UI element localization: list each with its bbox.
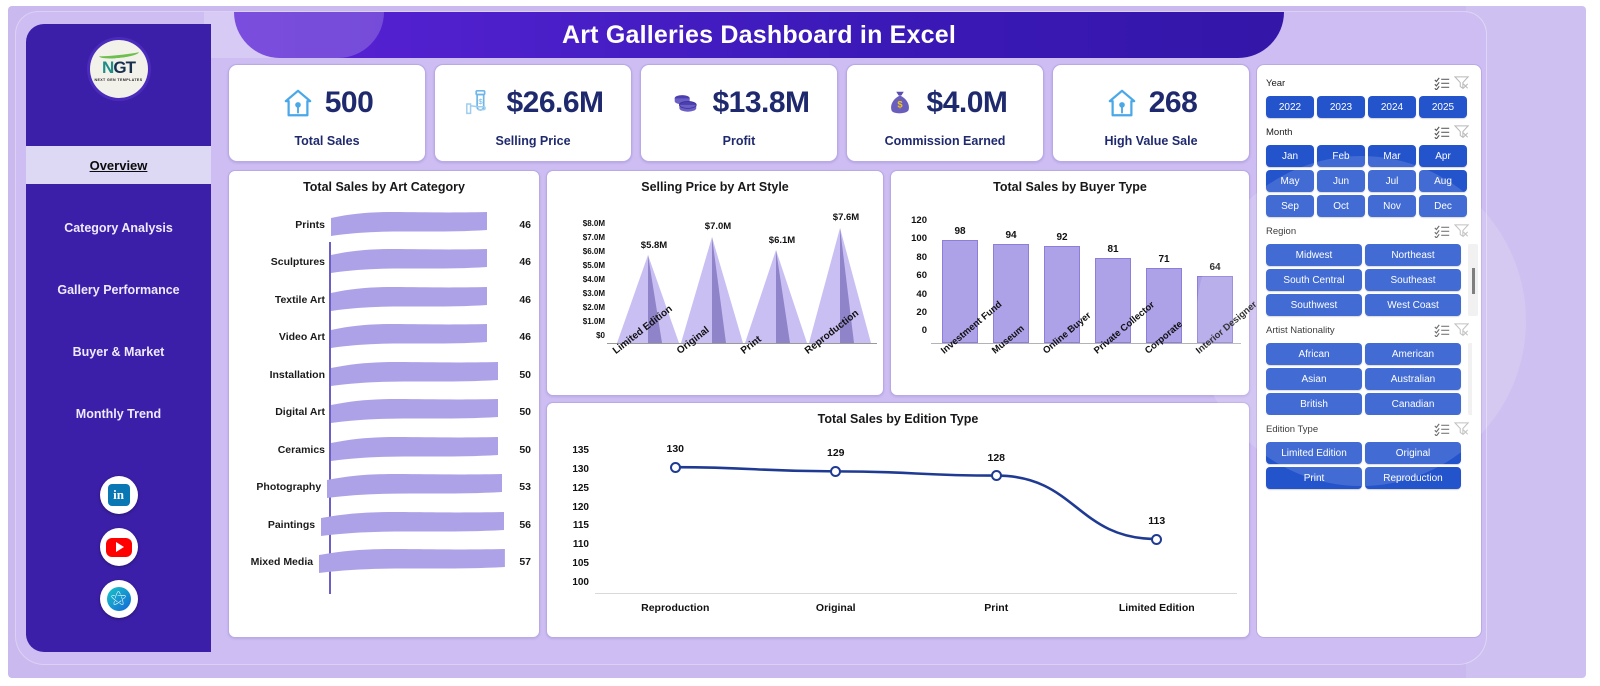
category-label: Mixed Media xyxy=(235,556,319,568)
y-tick: 120 xyxy=(911,216,927,226)
slicer-option[interactable]: Mar xyxy=(1368,145,1416,167)
money-bag-icon: $ xyxy=(883,86,917,120)
slicer-scrollbar[interactable] xyxy=(1468,343,1472,415)
slicer-options: 2022202320242025 xyxy=(1266,96,1472,118)
chart-body-edition-type: 135130125120115110105100 130129128113 Re… xyxy=(547,426,1249,632)
website-button[interactable]: ⚝ xyxy=(100,580,138,618)
nav-spacer-2 xyxy=(26,246,211,272)
bar-value-label: 64 xyxy=(1190,262,1240,273)
sidebar-item-buyer-market[interactable]: Buyer & Market xyxy=(26,334,211,370)
dashboard-root: Art Galleries Dashboard in Excel NGT NEX… xyxy=(0,0,1600,686)
line-series xyxy=(595,446,1237,594)
category-value: 46 xyxy=(501,294,531,306)
y-tick: 115 xyxy=(573,521,589,531)
slicer-option[interactable]: American xyxy=(1365,343,1461,365)
sidebar-item-monthly-trend[interactable]: Monthly Trend xyxy=(26,396,211,432)
kpi-label: High Value Sale xyxy=(1104,134,1197,148)
linkedin-button[interactable]: in xyxy=(100,476,138,514)
slicer-option[interactable]: Australian xyxy=(1365,368,1461,390)
kpi-card-high-value-sale: 268High Value Sale xyxy=(1052,64,1250,162)
pyramid-value-label: $7.6M xyxy=(805,212,887,223)
linkedin-icon: in xyxy=(108,484,130,506)
line-marker xyxy=(670,462,681,473)
slicer-option[interactable]: African xyxy=(1266,343,1362,365)
category-wave-bar xyxy=(331,285,501,315)
kpi-label: Commission Earned xyxy=(885,134,1006,148)
filter-group-month: MonthJanFebMarAprMayJunJulAugSepOctNovDe… xyxy=(1266,122,1472,217)
slicer-option[interactable]: Reproduction xyxy=(1365,467,1461,489)
category-row: Digital Art50 xyxy=(235,394,531,432)
slicer-options: Limited EditionOriginalPrintReproduction xyxy=(1266,442,1472,489)
clear-filter-icon[interactable] xyxy=(1452,124,1472,140)
category-label: Installation xyxy=(235,369,331,381)
kpi-value: 500 xyxy=(325,86,374,120)
edition-type-x-labels: ReproductionOriginalPrintLimited Edition xyxy=(595,602,1237,614)
slicer-option[interactable]: Apr xyxy=(1419,145,1467,167)
kpi-top: $$4.0M xyxy=(883,78,1008,128)
social-links: in ⚝ xyxy=(100,476,138,618)
logo-g: G xyxy=(113,58,125,77)
slicer-option[interactable]: 2025 xyxy=(1419,96,1467,118)
edition-type-plot: 130129128113 xyxy=(595,446,1237,594)
art-style-x-labels: Limited EditionOriginalPrintReproduction xyxy=(607,346,883,390)
clear-filter-icon[interactable] xyxy=(1452,75,1472,91)
svg-text:$: $ xyxy=(479,97,484,106)
slicer-option[interactable]: Aug xyxy=(1419,170,1467,192)
chart-body-buyer-type: 120100806040200 989492817164 Investment … xyxy=(891,194,1249,390)
edition-type-y-axis: 135130125120115110105100 xyxy=(557,446,589,588)
kpi-value: $26.6M xyxy=(506,86,603,120)
sidebar-item-overview[interactable]: Overview xyxy=(26,146,211,184)
category-value: 46 xyxy=(501,219,531,231)
y-tick: $7.0M xyxy=(583,234,605,242)
y-tick: 135 xyxy=(572,446,589,456)
slicer-option[interactable]: Nov xyxy=(1368,195,1416,217)
kpi-label: Profit xyxy=(723,134,756,148)
slicer-options: AfricanAmericanAsianAustralianBritishCan… xyxy=(1266,343,1472,415)
slicer-option[interactable]: Southwest xyxy=(1266,294,1362,316)
kpi-top: 268 xyxy=(1105,78,1198,128)
brand-logo: NGT NEXT GEN TEMPLATES xyxy=(90,40,148,98)
slicer-option[interactable]: British xyxy=(1266,393,1362,415)
line-x-label: Limited Edition xyxy=(1077,602,1238,614)
y-tick: 110 xyxy=(573,540,589,550)
line-value-label: 129 xyxy=(827,447,845,459)
category-value: 57 xyxy=(505,556,531,568)
y-tick: $3.0M xyxy=(583,290,605,298)
slicer-option[interactable]: West Coast xyxy=(1365,294,1461,316)
slicer-option[interactable]: 2022 xyxy=(1266,96,1314,118)
gallery-house-icon xyxy=(1105,86,1139,120)
category-label: Photography xyxy=(235,481,327,493)
category-value: 50 xyxy=(501,369,531,381)
nav-spacer-3 xyxy=(26,308,211,334)
svg-text:$: $ xyxy=(897,100,903,110)
filter-title: Artist Nationality xyxy=(1266,325,1432,336)
filter-header: Year xyxy=(1266,73,1472,93)
multi-select-icon[interactable] xyxy=(1432,421,1452,437)
category-row: Photography53 xyxy=(235,469,531,507)
line-value-label: 128 xyxy=(987,452,1005,464)
y-tick: 60 xyxy=(916,271,927,281)
clear-filter-icon[interactable] xyxy=(1452,322,1472,338)
logo-n: N xyxy=(102,58,113,77)
slicer-option[interactable]: Midwest xyxy=(1266,244,1362,266)
chart-title-buyer-type: Total Sales by Buyer Type xyxy=(891,171,1249,194)
slicer-option[interactable]: Print xyxy=(1266,467,1362,489)
y-tick: $4.0M xyxy=(583,276,605,284)
category-label: Paintings xyxy=(235,519,321,531)
slicer-option[interactable]: Jan xyxy=(1266,145,1314,167)
title-swoosh-decoration xyxy=(204,12,384,58)
category-wave-bar xyxy=(331,210,501,240)
filter-header: Region xyxy=(1266,221,1472,241)
category-value: 50 xyxy=(501,444,531,456)
filter-title: Month xyxy=(1266,127,1432,138)
line-value-label: 130 xyxy=(666,443,684,455)
y-tick: 20 xyxy=(916,308,927,318)
category-label: Sculptures xyxy=(235,256,331,268)
buyer-type-y-axis: 120100806040200 xyxy=(899,216,927,336)
y-tick: $0 xyxy=(596,332,605,340)
kpi-top: 500 xyxy=(281,78,374,128)
dashboard-title-banner: Art Galleries Dashboard in Excel xyxy=(234,12,1284,58)
category-row: Mixed Media57 xyxy=(235,544,531,582)
kpi-row: 500Total Sales$$26.6MSelling Price$13.8M… xyxy=(228,64,1250,162)
kpi-card-commission-earned: $$4.0MCommission Earned xyxy=(846,64,1044,162)
slicer-option[interactable]: Dec xyxy=(1419,195,1467,217)
slicer-option[interactable]: Northeast xyxy=(1365,244,1461,266)
dashboard-canvas: Art Galleries Dashboard in Excel NGT NEX… xyxy=(8,6,1586,678)
category-label: Textile Art xyxy=(235,294,331,306)
multi-select-icon[interactable] xyxy=(1432,223,1452,239)
line-value-label: 113 xyxy=(1148,515,1165,527)
category-value: 53 xyxy=(502,481,531,493)
slicer-options: JanFebMarAprMayJunJulAugSepOctNovDec xyxy=(1266,145,1472,217)
category-row: Prints46 xyxy=(235,206,531,244)
slicer-option[interactable]: Original xyxy=(1365,442,1461,464)
coins-icon xyxy=(668,86,702,120)
art-style-y-axis: $8.0M$7.0M$6.0M$5.0M$4.0M$3.0M$2.0M$1.0M… xyxy=(553,220,605,340)
y-tick: $5.0M xyxy=(583,262,605,270)
category-label: Video Art xyxy=(235,331,331,343)
line-marker xyxy=(991,470,1002,481)
multi-select-icon[interactable] xyxy=(1432,124,1452,140)
sidebar: NGT NEXT GEN TEMPLATES Overview Category… xyxy=(26,24,211,652)
bar-value-label: 94 xyxy=(986,230,1036,241)
chart-card-total-sales-by-buyer-type: Total Sales by Buyer Type 12010080604020… xyxy=(890,170,1250,396)
slicer-option[interactable]: Canadian xyxy=(1365,393,1461,415)
category-rows: Prints46Sculptures46Textile Art46Video A… xyxy=(235,206,531,581)
bar-value-label: 81 xyxy=(1088,244,1138,255)
slicer-option[interactable]: Jun xyxy=(1317,170,1365,192)
category-value: 56 xyxy=(504,519,531,531)
bar-value-label: 98 xyxy=(935,226,985,237)
clear-filter-icon[interactable] xyxy=(1452,421,1472,437)
line-x-label: Print xyxy=(916,602,1077,614)
slicer-scrollbar[interactable] xyxy=(1468,244,1478,316)
nav-spacer-4 xyxy=(26,370,211,396)
page-title: Art Galleries Dashboard in Excel xyxy=(562,21,956,50)
category-wave-bar xyxy=(327,472,502,502)
line-x-label: Reproduction xyxy=(595,602,756,614)
y-tick: 130 xyxy=(572,465,589,475)
youtube-icon xyxy=(106,538,132,557)
bar-value-label: 92 xyxy=(1037,232,1087,243)
chart-body-art-style: $8.0M$7.0M$6.0M$5.0M$4.0M$3.0M$2.0M$1.0M… xyxy=(547,194,883,390)
category-row: Textile Art46 xyxy=(235,281,531,319)
chart-card-total-sales-by-art-category: Total Sales by Art Category Prints46Scul… xyxy=(228,170,540,638)
chart-title-art-style: Selling Price by Art Style xyxy=(547,171,883,194)
kpi-value: 268 xyxy=(1149,86,1198,120)
kpi-top: $$26.6M xyxy=(462,78,603,128)
category-wave-bar xyxy=(331,360,501,390)
logo-wrapper: NGT NEXT GEN TEMPLATES xyxy=(90,40,148,98)
slicer-option[interactable]: Oct xyxy=(1317,195,1365,217)
kpi-card-profit: $13.8MProfit xyxy=(640,64,838,162)
slicer-option[interactable]: Sep xyxy=(1266,195,1314,217)
globe-icon: ⚝ xyxy=(107,587,131,611)
category-label: Digital Art xyxy=(235,406,331,418)
sidebar-nav: Overview Category Analysis Gallery Perfo… xyxy=(26,120,211,432)
filter-group-region: RegionMidwestNortheastSouth CentralSouth… xyxy=(1266,221,1472,316)
y-tick: 0 xyxy=(922,326,927,336)
pyramid-value-label: $7.0M xyxy=(677,221,759,232)
slicer-option[interactable]: Feb xyxy=(1317,145,1365,167)
hand-money-icon: $ xyxy=(462,86,496,120)
category-value: 50 xyxy=(501,406,531,418)
sidebar-item-gallery-performance[interactable]: Gallery Performance xyxy=(26,272,211,308)
kpi-label: Selling Price xyxy=(495,134,570,148)
y-tick: 80 xyxy=(916,253,927,263)
nav-spacer-top xyxy=(26,120,211,146)
kpi-card-selling-price: $$26.6MSelling Price xyxy=(434,64,632,162)
category-value: 46 xyxy=(501,331,531,343)
filter-group-edition-type: Edition TypeLimited EditionOriginalPrint… xyxy=(1266,419,1472,489)
filter-header: Edition Type xyxy=(1266,419,1472,439)
buyer-type-x-labels: Investment FundMuseumOnline BuyerPrivate… xyxy=(931,346,1249,390)
y-tick: 100 xyxy=(572,578,589,588)
kpi-value: $13.8M xyxy=(712,86,809,120)
chart-title-edition-type: Total Sales by Edition Type xyxy=(547,403,1249,426)
youtube-button[interactable] xyxy=(100,528,138,566)
logo-text: NGT xyxy=(102,59,135,76)
slicer-options: MidwestNortheastSouth CentralSoutheastSo… xyxy=(1266,244,1472,316)
slicer-option[interactable]: May xyxy=(1266,170,1314,192)
chart-title-art-category: Total Sales by Art Category xyxy=(229,171,539,194)
category-wave-bar xyxy=(331,322,501,352)
chart-card-selling-price-by-art-style: Selling Price by Art Style $8.0M$7.0M$6.… xyxy=(546,170,884,396)
line-x-label: Original xyxy=(756,602,917,614)
category-label: Prints xyxy=(235,219,331,231)
filter-header: Month xyxy=(1266,122,1472,142)
category-wave-bar xyxy=(331,397,501,427)
logo-tagline: NEXT GEN TEMPLATES xyxy=(94,78,142,82)
nav-spacer-1 xyxy=(26,184,211,210)
category-row: Ceramics50 xyxy=(235,431,531,469)
slicer-option[interactable]: South Central xyxy=(1266,269,1362,291)
category-row: Installation50 xyxy=(235,356,531,394)
logo-t: T xyxy=(126,58,135,77)
filter-title: Region xyxy=(1266,226,1432,237)
sidebar-item-category-analysis[interactable]: Category Analysis xyxy=(26,210,211,246)
y-tick: $2.0M xyxy=(583,304,605,312)
bar-x-label: Interior Designer xyxy=(1194,299,1259,356)
kpi-card-total-sales: 500Total Sales xyxy=(228,64,426,162)
category-wave-bar xyxy=(331,247,501,277)
y-tick: 100 xyxy=(911,234,927,244)
category-row: Paintings56 xyxy=(235,506,531,544)
kpi-value: $4.0M xyxy=(927,86,1008,120)
category-wave-bar xyxy=(319,547,505,577)
filter-title: Year xyxy=(1266,78,1432,89)
slicer-option[interactable]: 2023 xyxy=(1317,96,1365,118)
kpi-label: Total Sales xyxy=(294,134,359,148)
chart-card-total-sales-by-edition-type: Total Sales by Edition Type 135130125120… xyxy=(546,402,1250,638)
slicer-option[interactable]: Limited Edition xyxy=(1266,442,1362,464)
slicer-option[interactable]: Southeast xyxy=(1365,269,1461,291)
y-tick: $6.0M xyxy=(583,248,605,256)
kpi-top: $13.8M xyxy=(668,78,809,128)
gallery-house-icon xyxy=(281,86,315,120)
category-wave-bar xyxy=(331,435,501,465)
category-label: Ceramics xyxy=(235,444,331,456)
multi-select-icon[interactable] xyxy=(1432,322,1452,338)
filter-panel: Year2022202320242025MonthJanFebMarAprMay… xyxy=(1256,64,1482,638)
category-row: Video Art46 xyxy=(235,319,531,357)
category-row: Sculptures46 xyxy=(235,244,531,282)
filter-group-year: Year2022202320242025 xyxy=(1266,73,1472,118)
chart-body-art-category: Prints46Sculptures46Textile Art46Video A… xyxy=(229,194,539,616)
dashboard-inner-panel: Art Galleries Dashboard in Excel NGT NEX… xyxy=(16,12,1486,664)
filter-title: Edition Type xyxy=(1266,424,1432,435)
slicer-option[interactable]: Asian xyxy=(1266,368,1362,390)
y-tick: 125 xyxy=(572,484,589,494)
y-tick: 120 xyxy=(572,503,589,513)
filter-group-artist-nationality: Artist NationalityAfricanAmericanAsianAu… xyxy=(1266,320,1472,415)
filter-header: Artist Nationality xyxy=(1266,320,1472,340)
slicer-option[interactable]: 2024 xyxy=(1368,96,1416,118)
category-wave-bar xyxy=(321,510,504,540)
y-tick: 105 xyxy=(572,559,589,569)
y-tick: 40 xyxy=(916,290,927,300)
y-tick: $1.0M xyxy=(583,318,605,326)
slicer-option[interactable]: Jul xyxy=(1368,170,1416,192)
multi-select-icon[interactable] xyxy=(1432,75,1452,91)
line-marker xyxy=(1151,534,1162,545)
category-value: 46 xyxy=(501,256,531,268)
y-tick: $8.0M xyxy=(583,220,605,228)
clear-filter-icon[interactable] xyxy=(1452,223,1472,239)
bar-value-label: 71 xyxy=(1139,254,1189,265)
charts-area: Total Sales by Art Category Prints46Scul… xyxy=(228,170,1250,638)
